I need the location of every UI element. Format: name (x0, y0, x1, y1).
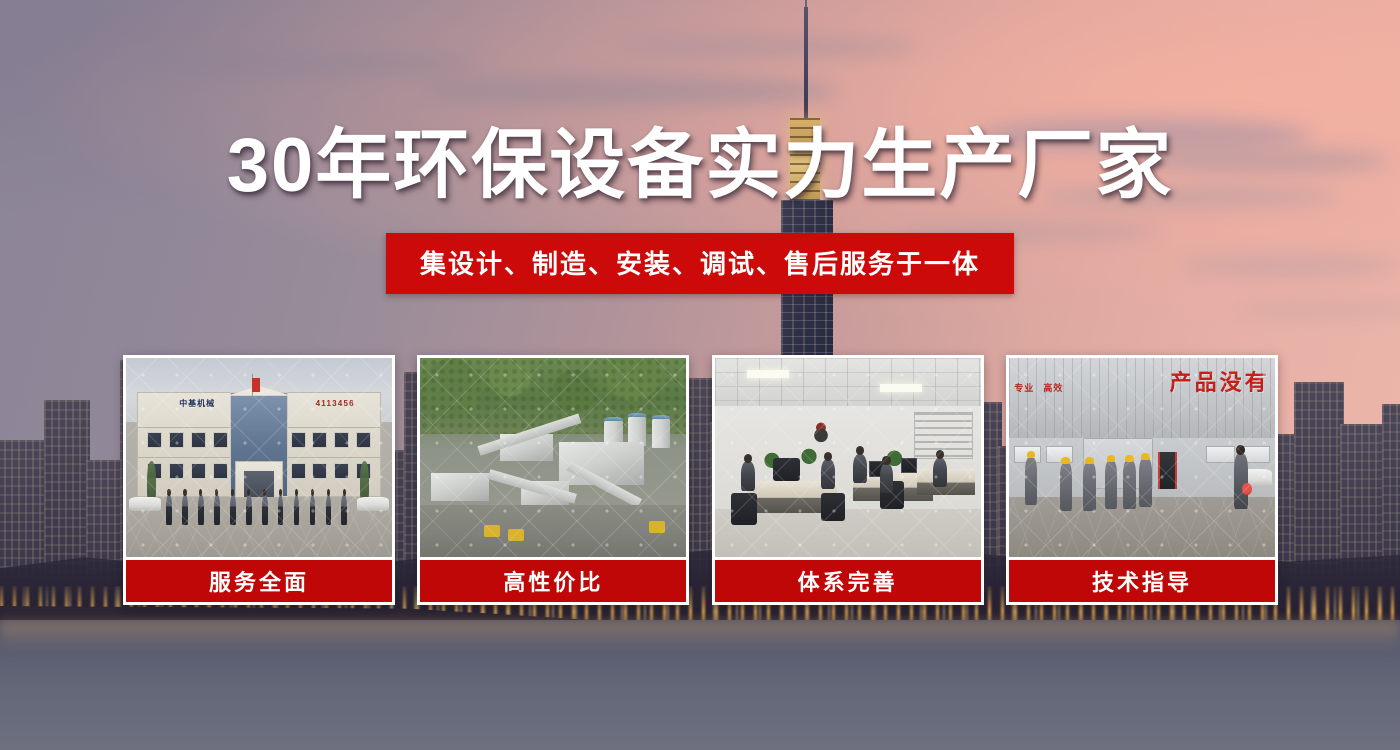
card-caption: 技术指导 (1009, 557, 1275, 602)
card-photo-office (715, 358, 981, 557)
feature-card[interactable]: 体系完善 (712, 355, 984, 605)
subtitle-banner: 集设计、制造、安装、调试、售后服务于一体 (386, 233, 1014, 294)
building-phone-number: 4113456 (275, 398, 355, 410)
feature-card[interactable]: 中基机械 4113456 服务全 (123, 355, 395, 605)
factory-slogan-1: 专业 (1014, 381, 1034, 394)
card-photo-plant (420, 358, 686, 557)
card-caption: 服务全面 (126, 557, 392, 602)
building-sign-text: 中基机械 (179, 398, 248, 410)
page-title: 30年环保设备实力生产厂家 (0, 128, 1400, 204)
promo-banner: 30年环保设备实力生产厂家 集设计、制造、安装、调试、售后服务于一体 (0, 0, 1400, 750)
factory-banner-text: 产品没有 (1142, 364, 1270, 398)
card-caption: 高性价比 (420, 557, 686, 602)
card-photo-workers: 产品没有 专业 高效 (1009, 358, 1275, 557)
card-photo-headquarters: 中基机械 4113456 (126, 358, 392, 557)
feature-card-row: 中基机械 4113456 服务全 (123, 355, 1278, 605)
river-water (0, 620, 1400, 750)
card-caption: 体系完善 (715, 557, 981, 602)
subtitle-text: 集设计、制造、安装、调试、售后服务于一体 (386, 233, 1014, 294)
feature-card[interactable]: 高性价比 (417, 355, 689, 605)
feature-card[interactable]: 产品没有 专业 高效 (1006, 355, 1278, 605)
factory-slogan-text: 专业 高效 (1014, 374, 1136, 402)
factory-slogan-2: 高效 (1043, 381, 1063, 394)
